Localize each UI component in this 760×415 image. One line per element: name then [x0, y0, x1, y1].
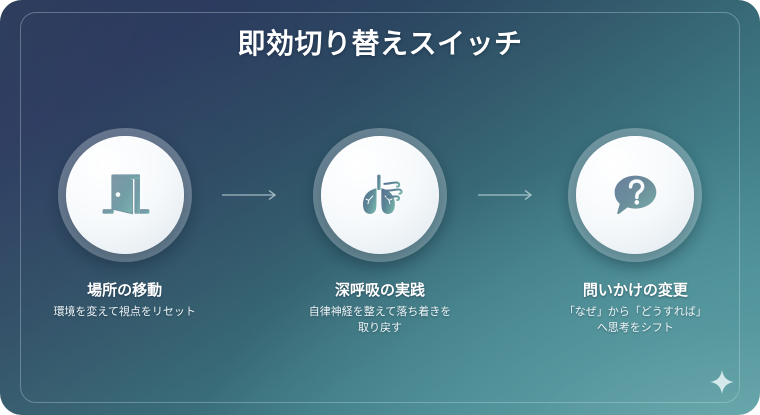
- arrow-right-icon: [221, 189, 283, 201]
- steps-row: 場所の移動 環境を変えて視点をリセット: [28, 128, 732, 336]
- step-2-badge: [321, 136, 439, 254]
- page-title: 即効切り替えスイッチ: [0, 22, 760, 62]
- connector-arrow-1: [221, 189, 283, 201]
- step-1-badge-wrap: [58, 128, 192, 262]
- connector-arrow-2: [477, 189, 539, 201]
- sparkle-icon: [709, 382, 735, 399]
- open-door-icon: [95, 165, 155, 225]
- sparkle-decoration: [709, 369, 735, 395]
- arrow-right-icon: [477, 189, 539, 201]
- step-2-title: 深呼吸の実践: [335, 279, 425, 300]
- step-card-1[interactable]: 場所の移動 環境を変えて視点をリセット: [28, 128, 221, 321]
- step-1-description: 環境を変えて視点をリセット: [53, 305, 195, 321]
- step-1-title: 場所の移動: [87, 279, 162, 300]
- step-3-badge-wrap: [568, 128, 702, 262]
- slide-canvas: 即効切り替えスイッチ: [0, 0, 760, 415]
- step-card-2[interactable]: 深呼吸の実践 自律神経を整えて落ち着きを取り戻す: [283, 128, 476, 336]
- step-3-description: 「なぜ」から「どうすれば」へ思考をシフト: [564, 305, 707, 336]
- step-2-description: 自律神経を整えて落ち着きを取り戻す: [309, 305, 451, 336]
- step-1-badge: [66, 136, 184, 254]
- step-3-badge: [576, 136, 694, 254]
- step-2-badge-wrap: [313, 128, 447, 262]
- lungs-breath-icon: [349, 164, 411, 226]
- step-3-title: 問いかけの変更: [583, 279, 688, 300]
- question-speech-bubble-icon: [604, 164, 666, 226]
- step-card-3[interactable]: 問いかけの変更 「なぜ」から「どうすれば」へ思考をシフト: [539, 128, 732, 336]
